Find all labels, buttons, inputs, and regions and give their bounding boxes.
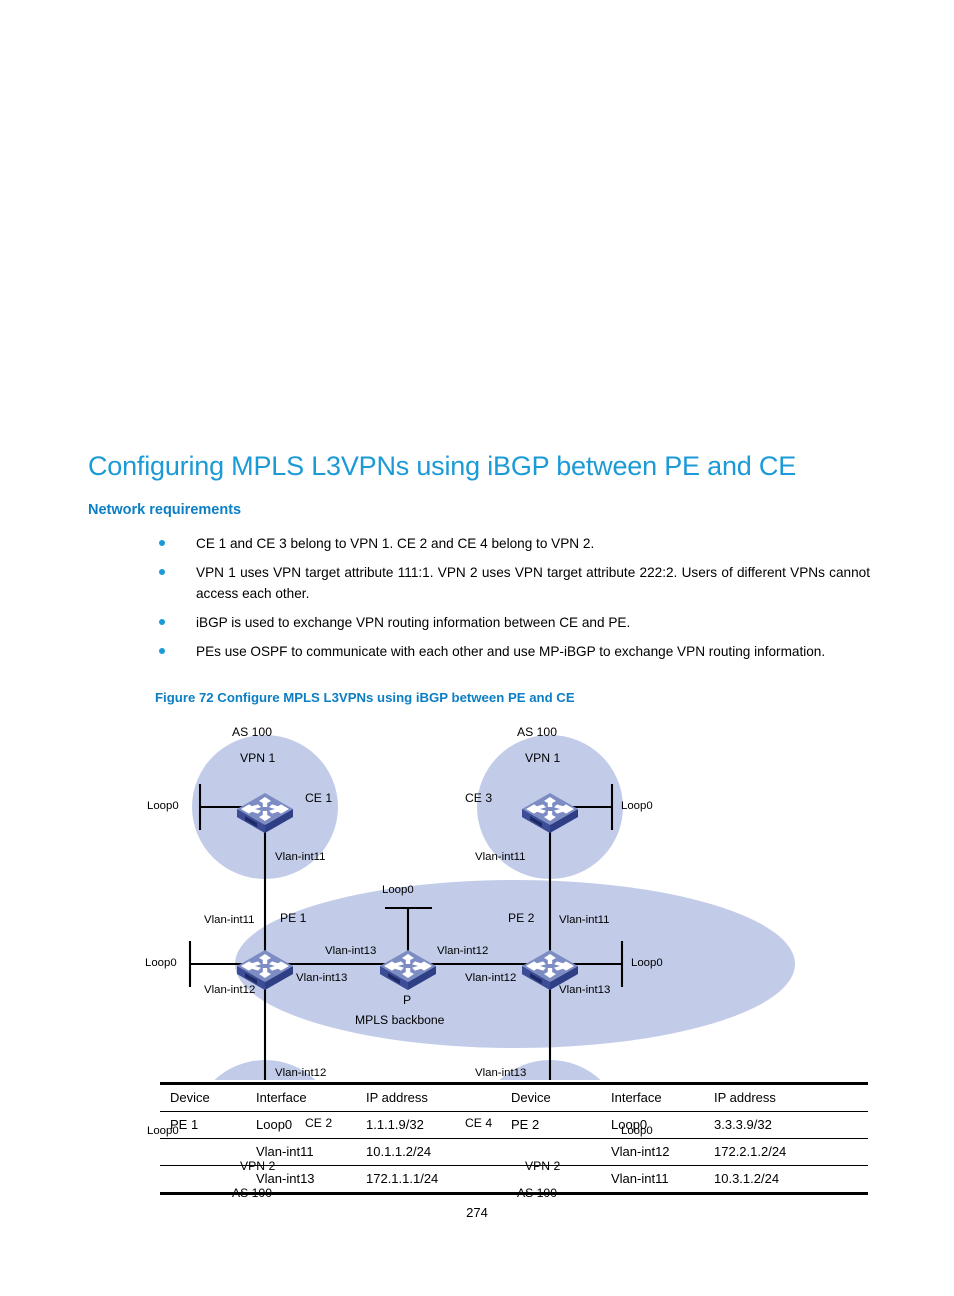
col-header-device-1: Device	[160, 1084, 256, 1112]
cell-device-1	[160, 1139, 256, 1166]
cell-ip-1: 1.1.1.9/32	[366, 1112, 511, 1139]
cell-interface-1: Loop0	[256, 1112, 366, 1139]
label-pe2-if-top: Vlan-int11	[559, 914, 609, 927]
table-row: Vlan-int13 172.1.1.1/24 Vlan-int11 10.3.…	[160, 1166, 868, 1194]
cell-ip-2: 10.3.1.2/24	[714, 1166, 868, 1194]
label-ce3-device: CE 3	[465, 792, 492, 805]
label-pe2-if-bottom: Vlan-int13	[559, 984, 610, 997]
network-requirements-list: CE 1 and CE 3 belong to VPN 1. CE 2 and …	[152, 533, 870, 670]
col-header-ip-1: IP address	[366, 1084, 511, 1112]
table-header: Device Interface IP address Device Inter…	[160, 1084, 868, 1112]
topology-svg	[160, 712, 870, 1080]
label-ce3-as: AS 100	[517, 726, 557, 739]
page-title: Configuring MPLS L3VPNs using iBGP betwe…	[88, 449, 888, 483]
label-p-if-left: Vlan-int13	[325, 945, 376, 958]
cell-device-2	[511, 1166, 611, 1194]
list-item: CE 1 and CE 3 belong to VPN 1. CE 2 and …	[152, 533, 870, 554]
label-pe2-if-left: Vlan-int12	[465, 972, 516, 985]
cell-interface-2: Loop0	[611, 1112, 714, 1139]
cell-ip-1: 172.1.1.1/24	[366, 1166, 511, 1194]
label-ce1-as: AS 100	[232, 726, 272, 739]
bullet-dot-icon	[159, 619, 165, 625]
page-number: 274	[0, 1205, 954, 1220]
interface-address-table: Device Interface IP address Device Inter…	[160, 1082, 868, 1195]
label-ce2-uplink: Vlan-int12	[275, 1067, 326, 1080]
list-item: PEs use OSPF to communicate with each ot…	[152, 641, 870, 662]
cell-interface-2: Vlan-int11	[611, 1166, 714, 1194]
label-pe1-if-right: Vlan-int13	[296, 972, 347, 985]
label-pe1-if-top: Vlan-int11	[204, 914, 254, 927]
label-ce4-uplink: Vlan-int13	[475, 1067, 526, 1080]
cell-ip-2: 3.3.3.9/32	[714, 1112, 868, 1139]
label-ce1-loop0: Loop0	[147, 800, 179, 813]
table-row: Vlan-int11 10.1.1.2/24 Vlan-int12 172.2.…	[160, 1139, 868, 1166]
cell-device-1: PE 1	[160, 1112, 256, 1139]
col-header-interface-1: Interface	[256, 1084, 366, 1112]
label-pe2-loop0: Loop0	[631, 957, 663, 970]
list-item-text: iBGP is used to exchange VPN routing inf…	[196, 615, 630, 630]
cell-interface-1: Vlan-int13	[256, 1166, 366, 1194]
section-heading: Network requirements	[88, 500, 241, 520]
bullet-dot-icon	[159, 540, 165, 546]
table-header-row: Device Interface IP address Device Inter…	[160, 1084, 868, 1112]
label-pe1-name: PE 1	[280, 912, 306, 925]
list-item: iBGP is used to exchange VPN routing inf…	[152, 612, 870, 633]
label-pe1-loop0: Loop0	[145, 957, 177, 970]
label-ce3-uplink: Vlan-int11	[475, 851, 525, 864]
label-ce1-device: CE 1	[305, 792, 332, 805]
label-ce3-vpn: VPN 1	[525, 752, 560, 765]
cell-device-2: PE 2	[511, 1112, 611, 1139]
col-header-interface-2: Interface	[611, 1084, 714, 1112]
cell-device-1	[160, 1166, 256, 1194]
label-ce3-loop0: Loop0	[621, 800, 653, 813]
label-p-name: P	[403, 994, 411, 1007]
label-ce1-vpn: VPN 1	[240, 752, 275, 765]
list-item-text: PEs use OSPF to communicate with each ot…	[196, 644, 825, 659]
label-pe2-name: PE 2	[508, 912, 534, 925]
list-item-text: VPN 1 uses VPN target attribute 111:1. V…	[196, 565, 870, 601]
cell-device-2	[511, 1139, 611, 1166]
bullet-dot-icon	[159, 648, 165, 654]
cell-interface-2: Vlan-int12	[611, 1139, 714, 1166]
table-body: PE 1 Loop0 1.1.1.9/32 PE 2 Loop0 3.3.3.9…	[160, 1112, 868, 1194]
list-item-text: CE 1 and CE 3 belong to VPN 1. CE 2 and …	[196, 536, 594, 551]
cell-ip-2: 172.2.1.2/24	[714, 1139, 868, 1166]
label-mpls-backbone: MPLS backbone	[355, 1014, 444, 1027]
cell-ip-1: 10.1.1.2/24	[366, 1139, 511, 1166]
network-topology-diagram: AS 100 VPN 1 CE 1 Loop0 Vlan-int11 AS 10…	[160, 712, 870, 1080]
col-header-ip-2: IP address	[714, 1084, 868, 1112]
label-pe1-if-bottom: Vlan-int12	[204, 984, 255, 997]
bullet-dot-icon	[159, 569, 165, 575]
list-item: VPN 1 uses VPN target attribute 111:1. V…	[152, 562, 870, 604]
cell-interface-1: Vlan-int11	[256, 1139, 366, 1166]
label-p-if-right: Vlan-int12	[437, 945, 488, 958]
col-header-device-2: Device	[511, 1084, 611, 1112]
label-p-loop0: Loop0	[382, 884, 414, 897]
figure-caption: Figure 72 Configure MPLS L3VPNs using iB…	[155, 690, 575, 705]
label-ce1-uplink: Vlan-int11	[275, 851, 325, 864]
table-row: PE 1 Loop0 1.1.1.9/32 PE 2 Loop0 3.3.3.9…	[160, 1112, 868, 1139]
